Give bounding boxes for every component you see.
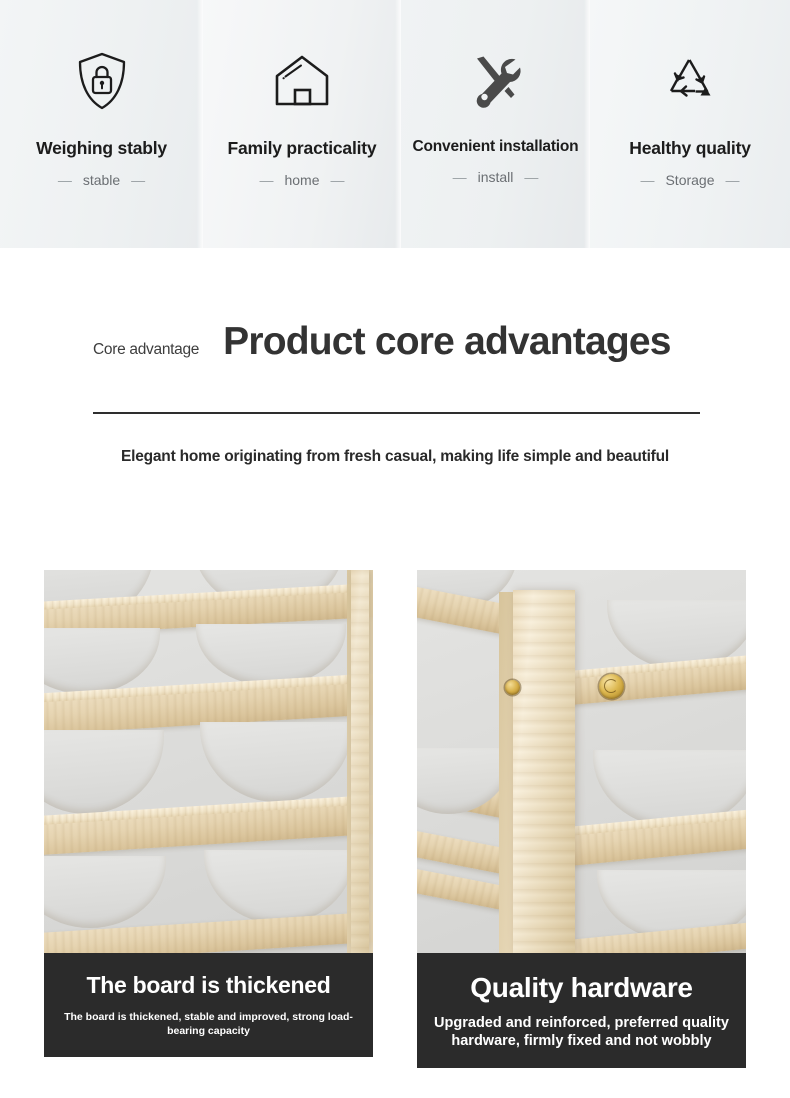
recycle-icon <box>662 50 718 112</box>
wood-post <box>513 590 575 953</box>
feature-subtitle: — Storage — <box>640 172 739 188</box>
dash-left: — <box>259 172 273 188</box>
feature-subtitle-text: Storage <box>665 172 714 188</box>
dash-right: — <box>524 169 538 185</box>
house-icon <box>274 50 330 112</box>
tools-icon <box>468 50 524 112</box>
product-caption: The board is thickened The board is thic… <box>44 953 373 1057</box>
shield-lock-icon <box>76 50 128 112</box>
product-title: The board is thickened <box>60 973 357 998</box>
feature-subtitle-text: stable <box>83 172 120 188</box>
core-description: Elegant home originating from fresh casu… <box>0 448 790 466</box>
product-image-quality-hardware <box>417 570 746 953</box>
dash-right: — <box>131 172 145 188</box>
feature-subtitle: — home — <box>259 172 344 188</box>
product-card-quality-hardware[interactable]: Quality hardware Upgraded and reinforced… <box>417 570 746 1068</box>
cam-lock-fastener-left <box>505 680 520 695</box>
dash-left: — <box>58 172 72 188</box>
feature-subtitle: — stable — <box>58 172 145 188</box>
feature-title: Weighing stably <box>36 138 167 159</box>
feature-banner: Weighing stably — stable — Family practi… <box>0 0 790 248</box>
product-title: Quality hardware <box>433 973 730 1004</box>
feature-subtitle-text: home <box>284 172 319 188</box>
product-description: Upgraded and reinforced, preferred quali… <box>433 1014 730 1050</box>
feature-card-family-practicality[interactable]: Family practicality — home — <box>203 0 401 248</box>
page-title: Product core advantages <box>223 322 671 361</box>
feature-title: Family practicality <box>228 138 377 159</box>
feature-title: Healthy quality <box>629 138 750 159</box>
feature-card-healthy-quality[interactable]: Healthy quality — Storage — <box>590 0 790 248</box>
core-kicker: Core advantage <box>93 341 199 359</box>
dash-right: — <box>331 172 345 188</box>
core-heading-group: Core advantage Product core advantages <box>93 322 671 361</box>
dash-left: — <box>640 172 654 188</box>
feature-title: Convenient installation <box>413 138 579 156</box>
dash-right: — <box>726 172 740 188</box>
feature-card-weighing-stably[interactable]: Weighing stably — stable — <box>0 0 203 248</box>
feature-subtitle-text: install <box>478 169 514 185</box>
product-card-board-thickened[interactable]: The board is thickened The board is thic… <box>44 570 373 1068</box>
product-image-board-thickened <box>44 570 373 953</box>
feature-card-convenient-installation[interactable]: Convenient installation — install — <box>401 0 590 248</box>
product-card-list: The board is thickened The board is thic… <box>44 570 746 1068</box>
cam-lock-fastener-right <box>599 674 624 699</box>
product-caption: Quality hardware Upgraded and reinforced… <box>417 953 746 1068</box>
dash-left: — <box>453 169 467 185</box>
product-detail-page: Weighing stably — stable — Family practi… <box>0 0 790 1098</box>
divider <box>93 412 700 414</box>
product-description: The board is thickened, stable and impro… <box>60 1010 357 1038</box>
feature-subtitle: — install — <box>453 169 539 185</box>
